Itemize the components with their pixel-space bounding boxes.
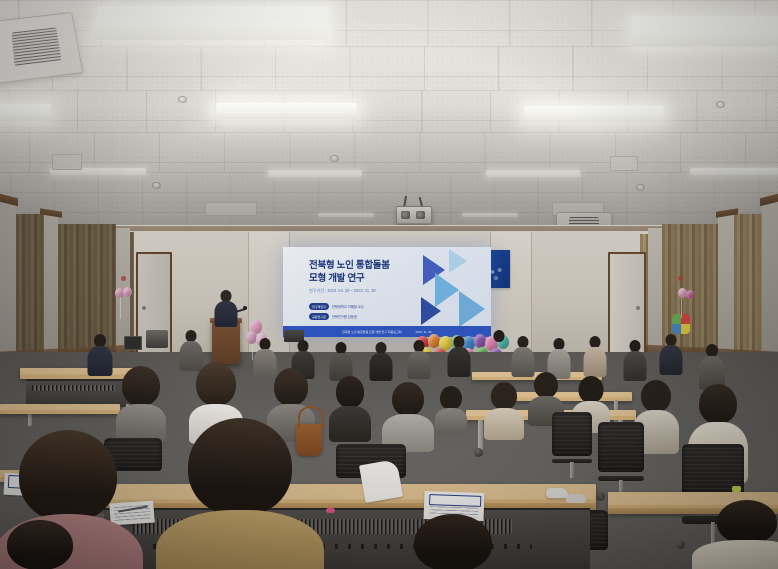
fire-alarm-icon-right xyxy=(678,276,683,281)
audience-member xyxy=(384,382,432,450)
slide-credit-pill: 연구책임자 xyxy=(309,303,329,310)
audience-member xyxy=(370,342,392,380)
slide-credit-text: 전북대학교 이혜정 교수 xyxy=(332,304,364,309)
audience-member xyxy=(700,344,724,388)
slide-subtitle: 연구기간 : 2023. 04. 20 ~ 2023. 11. 30. xyxy=(309,288,439,294)
audience-head xyxy=(122,366,160,406)
audience-member xyxy=(330,376,370,440)
presenter xyxy=(214,290,238,326)
slide-credit-row: 연구책임자 전북대학교 이혜정 교수 xyxy=(309,303,429,310)
seminar-room-photo: 행사 홍보 배너 니다! 전북형 노인 통합돌봄 모형 개발 연구 연구기간 :… xyxy=(0,0,778,569)
audience-member xyxy=(118,366,164,436)
audience-body xyxy=(408,351,431,379)
audience-member xyxy=(88,334,112,374)
right-wall-column-2 xyxy=(718,212,734,360)
front-row-head xyxy=(717,500,777,544)
audience-member xyxy=(408,340,430,378)
ceiling xyxy=(0,0,778,232)
balloon-left-wall xyxy=(123,287,132,297)
left-curtain-1 xyxy=(16,214,44,356)
slide-credit-row: 공동연구원 전북연구원 김동영 xyxy=(309,313,429,320)
audience-head xyxy=(196,362,236,406)
audience-member xyxy=(488,330,510,370)
office-chair[interactable] xyxy=(552,412,592,478)
front-row-body xyxy=(156,510,324,569)
audience-member xyxy=(436,386,466,432)
chair-caster xyxy=(474,448,483,457)
audience-member xyxy=(486,382,522,438)
sticky-marker xyxy=(326,508,335,513)
audience-body xyxy=(88,346,113,376)
left-wall-column-2 xyxy=(44,212,58,360)
projector-lens-2-icon xyxy=(416,211,425,219)
audience-head xyxy=(336,376,364,408)
front-row-head xyxy=(414,514,492,569)
right-wall-column-1 xyxy=(762,196,778,356)
front-row-audience-member xyxy=(702,500,778,569)
table-panel-vents xyxy=(32,385,115,392)
audience-member xyxy=(330,342,352,380)
slide-title-line-2: 모형 개발 연구 xyxy=(309,272,429,285)
balloon-stick xyxy=(681,298,682,318)
audience-head xyxy=(274,368,308,406)
av-equipment xyxy=(146,330,168,348)
front-row-head xyxy=(7,520,73,569)
table-leg xyxy=(478,420,483,450)
slide-credit-text: 전북연구원 김동영 xyxy=(332,314,357,319)
audience-body xyxy=(370,353,393,381)
presentation-slide: 전북형 노인 통합돌봄 모형 개발 연구 연구기간 : 2023. 04. 20… xyxy=(283,247,491,337)
slide-footer-left-text: 전북형 노인 통합돌봄 모형 개발 연구 최종보고회 xyxy=(342,329,401,334)
chair-backrest xyxy=(552,412,592,456)
slide-title: 전북형 노인 통합돌봄 모형 개발 연구 xyxy=(309,259,429,286)
audience-head xyxy=(440,386,462,410)
audience-member xyxy=(624,340,646,380)
audience-body xyxy=(660,345,683,375)
audience-head xyxy=(491,382,517,410)
audience-head xyxy=(641,380,671,412)
chevron-shape-5 xyxy=(459,291,485,327)
slide-credit-rows: 연구책임자 전북대학교 이혜정 교수 공동연구원 전북연구원 김동영 xyxy=(309,303,429,323)
audience-body xyxy=(435,408,467,434)
chair-caster xyxy=(676,540,685,549)
audience-head xyxy=(579,376,604,403)
slide-footer-right-text: 2023. 11. 30. xyxy=(415,330,432,334)
chevron-shape-4 xyxy=(449,249,467,273)
slide-title-line-1: 전북형 노인 통합돌봄 xyxy=(309,259,429,272)
audience-member xyxy=(448,336,470,376)
ceiling-projector xyxy=(396,206,432,224)
front-row-head xyxy=(19,430,117,522)
front-row-body xyxy=(692,540,778,569)
audience-member xyxy=(512,336,534,376)
chair-stem xyxy=(570,462,573,478)
right-door-knob-icon[interactable] xyxy=(636,306,640,310)
audience-body xyxy=(584,347,607,377)
front-row-head xyxy=(188,418,292,516)
balloon-stick xyxy=(120,297,121,319)
shoe-icon xyxy=(546,488,568,498)
shoe-icon xyxy=(566,494,586,503)
audience-head xyxy=(699,384,737,424)
audience-member xyxy=(584,336,606,376)
slide-credit-pill: 공동연구원 xyxy=(309,313,329,320)
audience-body xyxy=(329,406,371,442)
audience-head xyxy=(534,372,558,398)
chair-backrest xyxy=(598,422,644,472)
front-row-audience-member xyxy=(398,514,508,569)
audience-body xyxy=(488,341,511,371)
fire-alarm-icon-left xyxy=(121,276,126,281)
projection-screen: 전북형 노인 통합돌봄 모형 개발 연구 연구기간 : 2023. 04. 20… xyxy=(283,247,491,337)
ceiling-shading xyxy=(0,0,778,232)
audience-body xyxy=(484,408,524,440)
audience-head xyxy=(392,382,424,416)
front-table xyxy=(98,484,596,510)
front-left-table-panel xyxy=(26,379,132,407)
mid-table-left xyxy=(0,404,120,414)
highlighter-icon xyxy=(732,486,741,492)
audience-body xyxy=(448,347,471,377)
front-row-audience-member xyxy=(0,520,80,569)
front-row-audience-member xyxy=(176,418,304,569)
presenter-body xyxy=(215,301,238,327)
left-wall-column-1 xyxy=(0,196,16,356)
audience-body xyxy=(624,351,647,381)
microphone-head-icon xyxy=(243,306,247,310)
chair-caster xyxy=(596,492,605,501)
office-chair[interactable] xyxy=(598,422,644,498)
balloon-right-wall xyxy=(686,290,694,299)
audience-member xyxy=(660,334,682,374)
av-monitor xyxy=(124,336,142,350)
left-door-knob-icon[interactable] xyxy=(142,306,146,310)
right-curtain-1 xyxy=(734,214,762,356)
projector-lens-icon xyxy=(401,211,410,219)
